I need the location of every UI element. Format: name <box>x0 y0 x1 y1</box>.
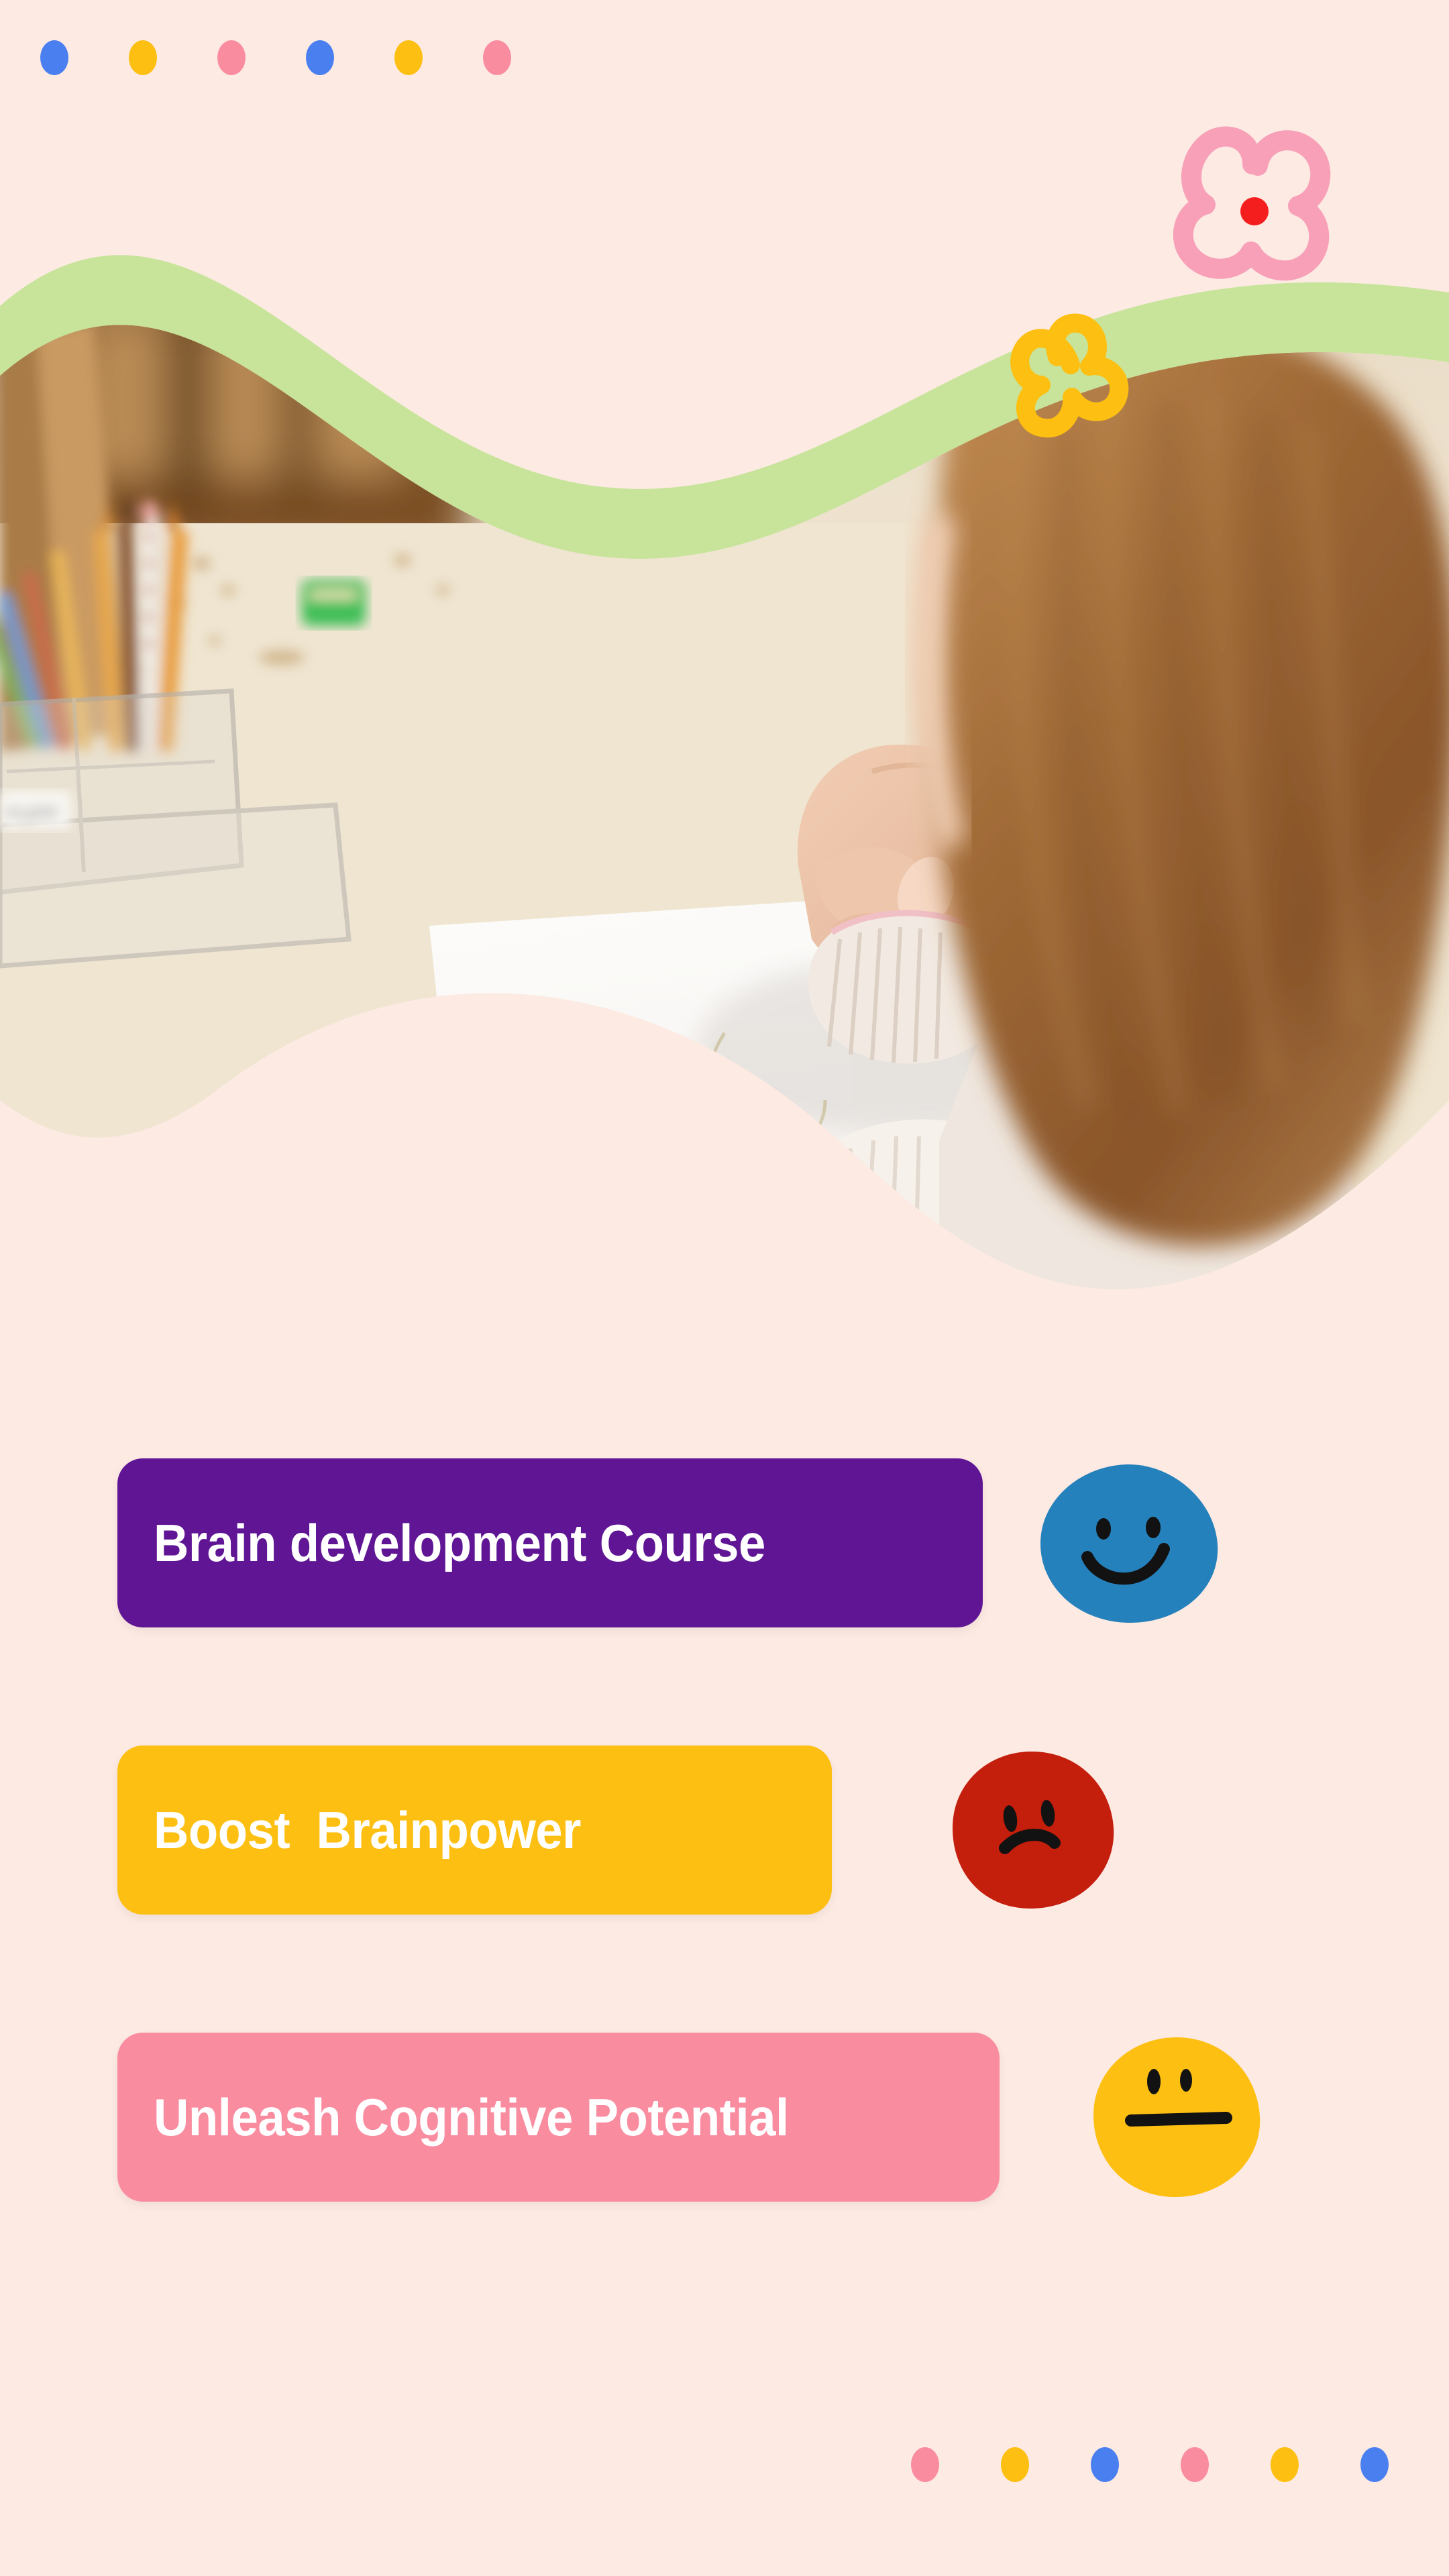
banner-row-unleash-cognitive: Unleash Cognitive Potential <box>0 2017 1449 2218</box>
banner-label-brain-development: Brain development Course <box>154 1517 765 1569</box>
dot-yellow-3 <box>1001 2447 1029 2482</box>
yellow-flower-icon <box>1000 295 1140 443</box>
banner-brain-development[interactable]: Brain development Course <box>117 1458 983 1627</box>
pink-flower-icon <box>1150 117 1372 305</box>
child-hair <box>932 315 1449 1246</box>
svg-text:АЦИИ: АЦИИ <box>5 802 59 822</box>
dot-blue-4 <box>1360 2447 1389 2482</box>
dot-pink-3 <box>911 2447 939 2482</box>
banner-unleash-cognitive[interactable]: Unleash Cognitive Potential <box>117 2033 1000 2202</box>
banner-row-brain-development: Brain development Course <box>0 1442 1449 1644</box>
sharpener <box>302 580 366 626</box>
bottom-dot-row <box>911 2447 1389 2482</box>
dot-pink-4 <box>1181 2447 1209 2482</box>
neutral-face-yellow-icon <box>1087 2033 1267 2201</box>
hero-photo-content: АЦИИ <box>0 268 1449 1362</box>
pink-flower-center <box>1240 197 1269 225</box>
banner-row-boost-brainpower: Boost Brainpower <box>0 1729 1449 1931</box>
dot-blue-3 <box>1091 2447 1119 2482</box>
banner-label-unleash-cognitive: Unleash Cognitive Potential <box>154 2091 789 2143</box>
banner-label-boost-brainpower: Boost Brainpower <box>154 1804 581 1856</box>
smiley-face-blue-icon <box>1035 1459 1223 1627</box>
banner-list: Brain development Course Boost Brainpowe… <box>0 1442 1449 2304</box>
dot-yellow-4 <box>1271 2447 1299 2482</box>
banner-boost-brainpower[interactable]: Boost Brainpower <box>117 1746 832 1915</box>
sad-face-red-icon <box>946 1746 1122 1914</box>
